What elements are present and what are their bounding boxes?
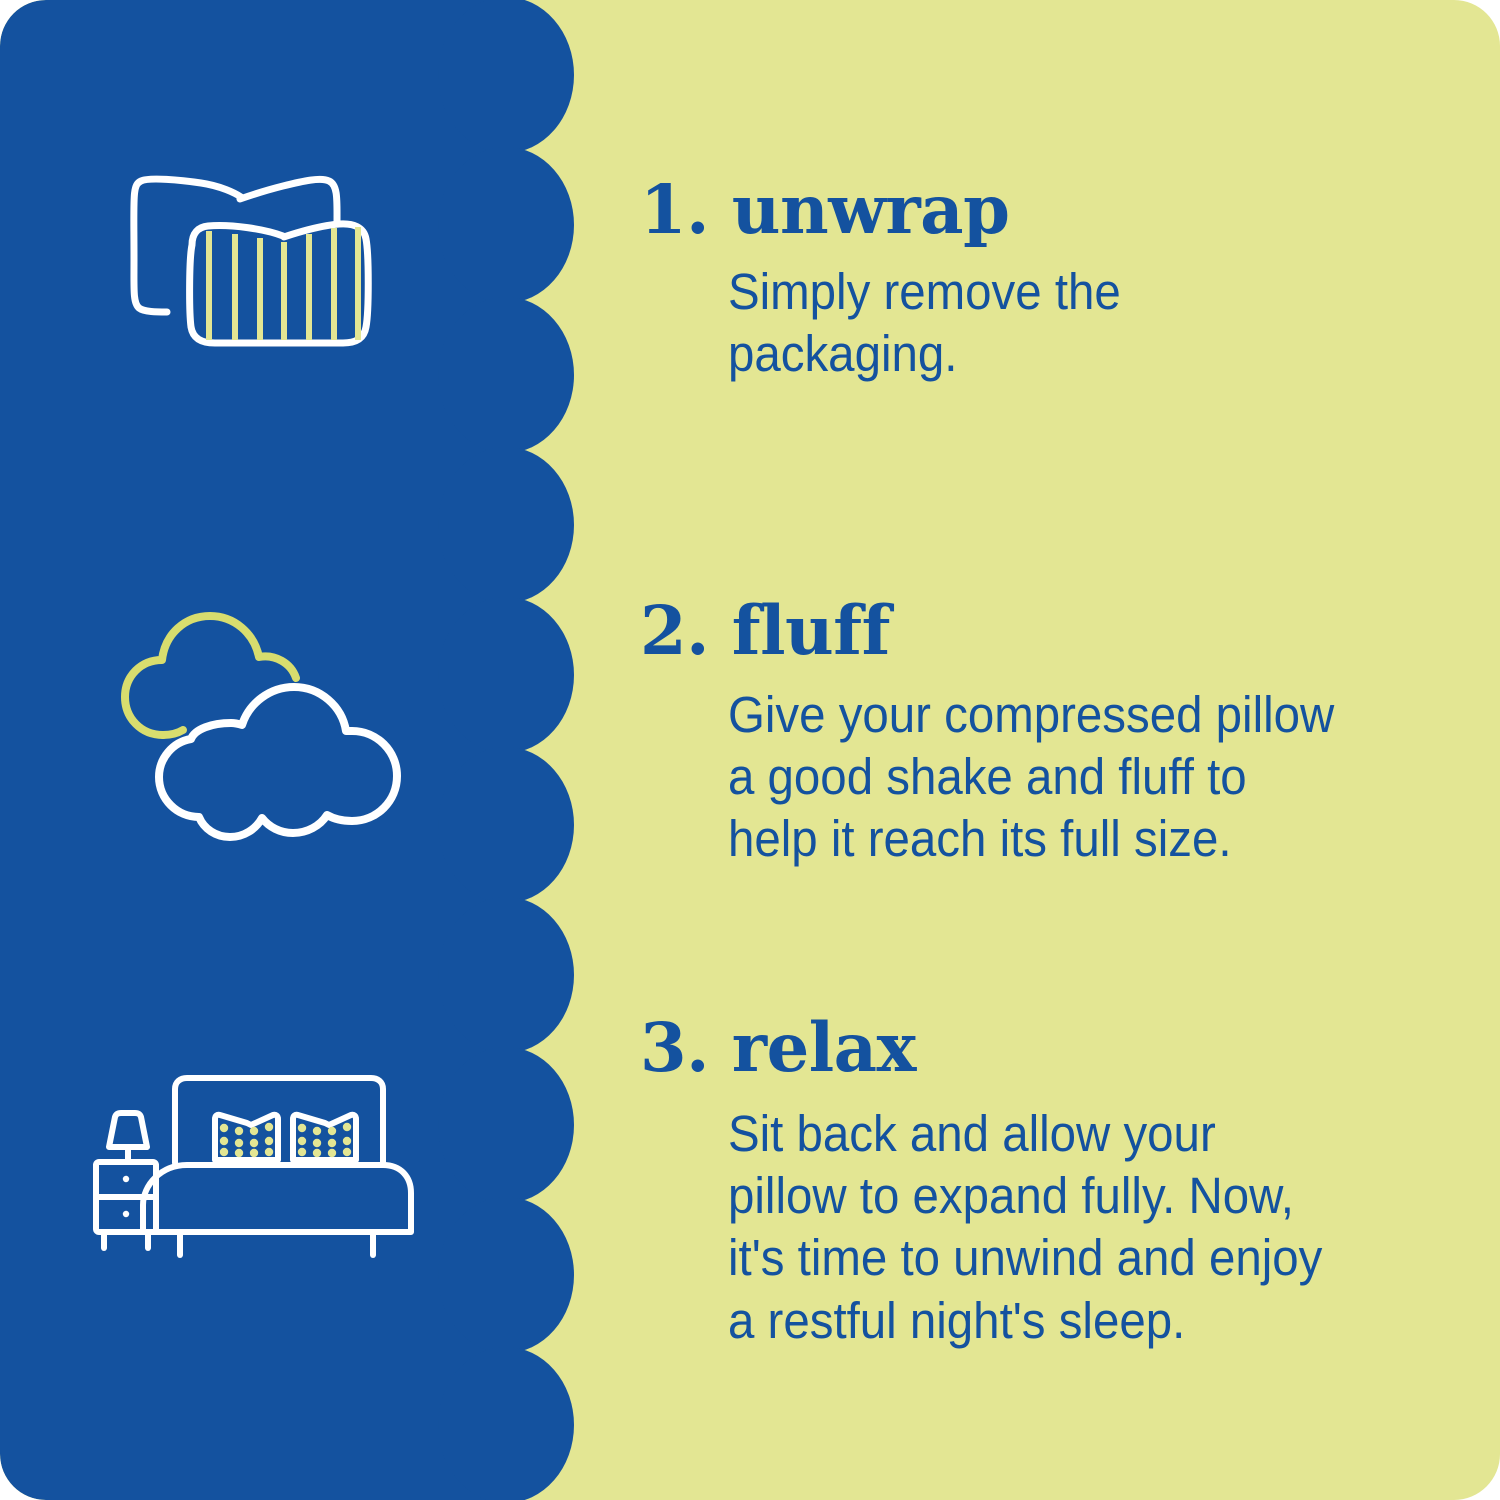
step-3-body: Sit back and allow your pillow to expand… xyxy=(728,1103,1381,1352)
stacked-pillows-icon xyxy=(103,155,403,375)
step-2-heading: 2. fluff xyxy=(640,597,1430,664)
step-2-body: Give your compressed pillow a good shake… xyxy=(728,684,1381,871)
step-1-body: Simply remove the packaging. xyxy=(728,261,1381,385)
mattress-icon xyxy=(143,1165,411,1232)
nightstand-knob-lower xyxy=(122,1211,128,1217)
step-1-heading: 1. unwrap xyxy=(640,176,1430,243)
bed-pillow-left-dots xyxy=(219,1123,272,1157)
clouds-icon xyxy=(103,603,403,848)
steps-content-column: 1. unwrap Simply remove the packaging. 2… xyxy=(640,0,1440,1500)
step-3: 3. relax Sit back and allow your pillow … xyxy=(640,1014,1430,1352)
step-3-icon-slot xyxy=(0,1065,505,1265)
pillow-stripes xyxy=(209,227,358,340)
instruction-card: 1. unwrap Simply remove the packaging. 2… xyxy=(0,0,1500,1500)
step-1-icon-slot xyxy=(0,150,505,380)
step-3-heading: 3. relax xyxy=(640,1014,1430,1081)
step-1: 1. unwrap Simply remove the packaging. xyxy=(640,176,1430,385)
nightstand-knob-upper xyxy=(122,1176,128,1182)
step-2: 2. fluff Give your compressed pillow a g… xyxy=(640,597,1430,871)
lamp-shade-icon xyxy=(109,1113,147,1147)
bed-with-nightstand-icon xyxy=(83,1065,423,1265)
step-2-icon-slot xyxy=(0,600,505,850)
bed-pillow-right-dots xyxy=(297,1123,350,1157)
